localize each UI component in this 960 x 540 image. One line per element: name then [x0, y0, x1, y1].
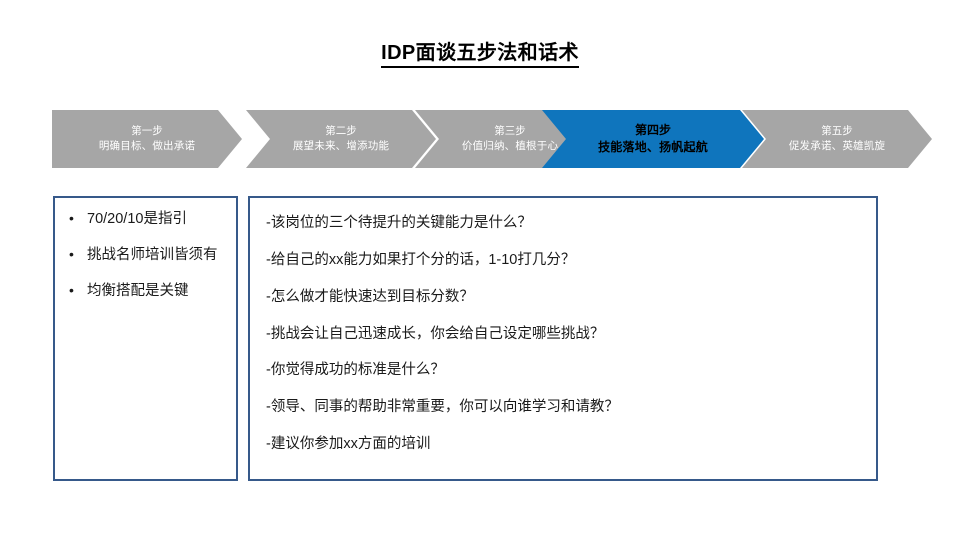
list-item: -给自己的xx能力如果打个分的话，1-10打几分？	[266, 251, 876, 270]
list-item: -挑战会让自己迅速成长，你会给自己设定哪些挑战？	[266, 325, 876, 344]
principles-list: 70/20/10是指引 挑战名师培训皆须有 均衡搭配是关键	[65, 210, 226, 301]
process-step-5-number: 第五步	[821, 124, 853, 139]
process-step-3-desc: 价值归纳、植根于心	[462, 139, 558, 154]
process-step-4[interactable]: 第四步 技能落地、扬帆起航	[542, 110, 764, 168]
page-title: IDP面谈五步法和话术	[0, 36, 960, 65]
questions-list: -该岗位的三个待提升的关键能力是什么？ -给自己的xx能力如果打个分的话，1-1…	[266, 214, 876, 454]
page-title-text: IDP面谈五步法和话术	[381, 42, 579, 68]
list-item: -怎么做才能快速达到目标分数？	[266, 288, 876, 307]
process-step-5-desc: 促发承诺、英雄凯旋	[789, 139, 885, 154]
list-item: 挑战名师培训皆须有	[65, 246, 226, 265]
list-item: -你觉得成功的标准是什么？	[266, 361, 876, 380]
process-step-4-desc: 技能落地、扬帆起航	[598, 139, 708, 156]
list-item: -领导、同事的帮助非常重要，你可以向谁学习和请教？	[266, 398, 876, 417]
process-step-4-number: 第四步	[635, 122, 671, 139]
questions-panel: -该岗位的三个待提升的关键能力是什么？ -给自己的xx能力如果打个分的话，1-1…	[248, 196, 878, 481]
process-step-2[interactable]: 第二步 展望未来、增添功能	[246, 110, 436, 168]
list-item: 均衡搭配是关键	[65, 282, 226, 301]
list-item: 70/20/10是指引	[65, 210, 226, 229]
process-step-1-desc: 明确目标、做出承诺	[99, 139, 195, 154]
process-step-1-number: 第一步	[131, 124, 163, 139]
process-step-5[interactable]: 第五步 促发承诺、英雄凯旋	[742, 110, 932, 168]
list-item: -该岗位的三个待提升的关键能力是什么？	[266, 214, 876, 233]
process-step-1[interactable]: 第一步 明确目标、做出承诺	[52, 110, 242, 168]
list-item: -建议你参加xx方面的培训	[266, 435, 876, 454]
process-step-3-number: 第三步	[494, 124, 526, 139]
process-step-2-number: 第二步	[325, 124, 357, 139]
principles-panel: 70/20/10是指引 挑战名师培训皆须有 均衡搭配是关键	[53, 196, 238, 481]
process-step-band: 第一步 明确目标、做出承诺 第二步 展望未来、增添功能 第三步 价值归纳、植根于…	[52, 110, 908, 168]
process-step-2-desc: 展望未来、增添功能	[293, 139, 389, 154]
